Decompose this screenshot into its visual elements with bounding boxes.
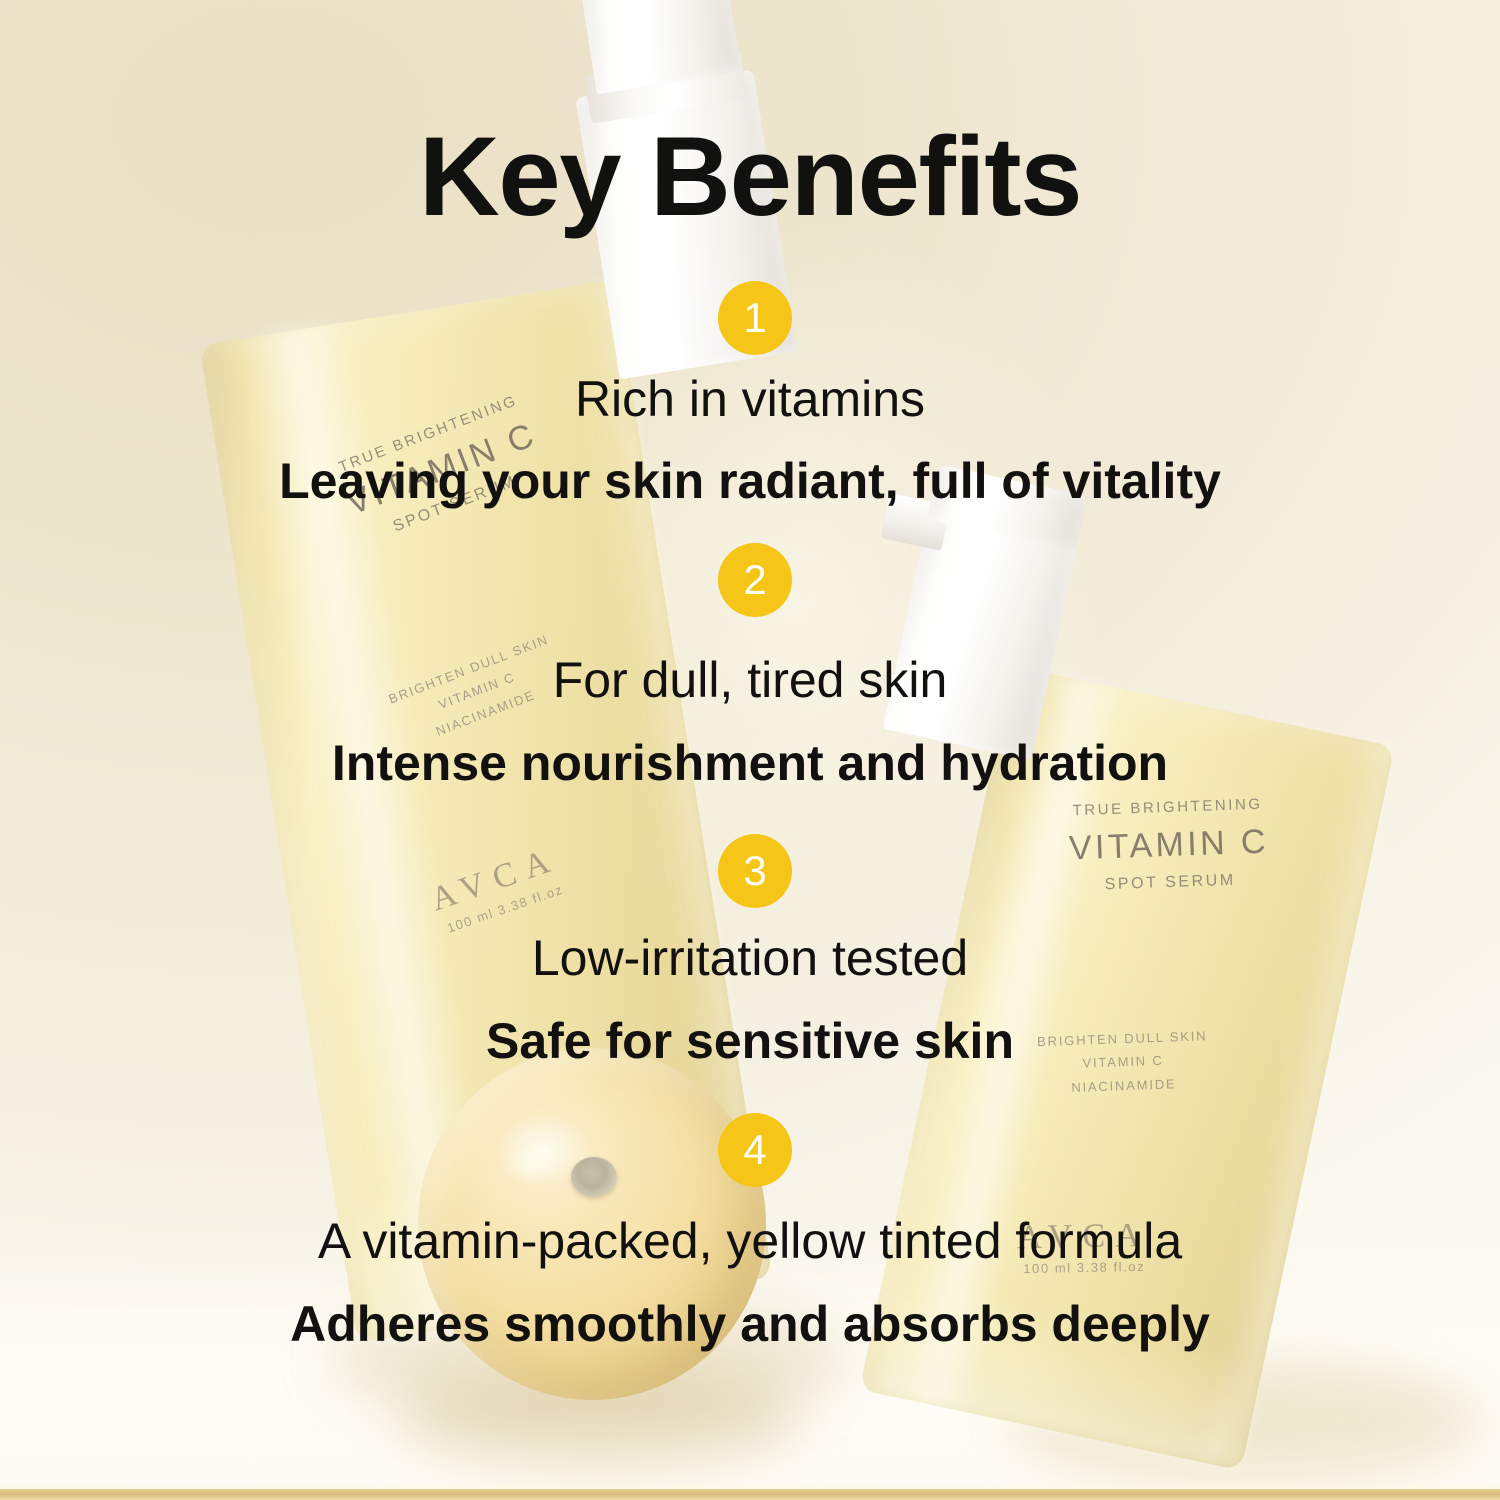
- benefit-detail-4: Adheres smoothly and absorbs deeply: [0, 1295, 1500, 1353]
- benefit-badge-2: 2: [718, 543, 792, 617]
- benefit-headline-2: For dull, tired skin: [0, 651, 1500, 709]
- benefit-badge-4: 4: [718, 1113, 792, 1187]
- benefit-headline-1: Rich in vitamins: [0, 370, 1500, 428]
- benefit-badge-3: 3: [718, 834, 792, 908]
- benefit-number-2: 2: [743, 556, 766, 604]
- benefit-number-1: 1: [743, 294, 766, 342]
- citrus-stem-nub: [571, 1157, 617, 1197]
- benefit-detail-1: Leaving your skin radiant, full of vital…: [0, 452, 1500, 510]
- benefit-number-4: 4: [743, 1126, 766, 1174]
- benefit-detail-3: Safe for sensitive skin: [0, 1012, 1500, 1070]
- bottom-accent-strip: [0, 1489, 1500, 1500]
- right-bottle-label: TRUE BRIGHTENING VITAMIN C SPOT SERUM: [1022, 792, 1315, 901]
- page-title: Key Benefits: [0, 112, 1500, 241]
- benefit-headline-3: Low-irritation tested: [0, 929, 1500, 987]
- benefit-headline-4: A vitamin-packed, yellow tinted formula: [0, 1212, 1500, 1270]
- key-benefits-graphic: TRUE BRIGHTENING VITAMIN C SPOT SERUM BR…: [0, 0, 1500, 1500]
- benefit-detail-2: Intense nourishment and hydration: [0, 734, 1500, 792]
- benefit-badge-1: 1: [718, 281, 792, 355]
- citrus-pore-texture: [488, 1132, 578, 1195]
- benefit-number-3: 3: [743, 847, 766, 895]
